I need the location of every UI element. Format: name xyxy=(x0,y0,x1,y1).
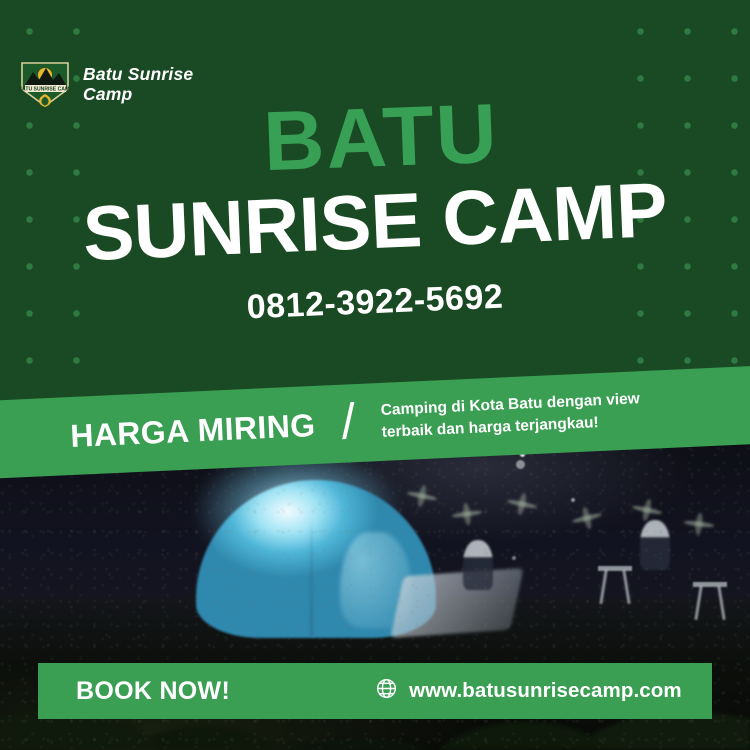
promo-poster: BATU SUNRISE CAMP Batu Sunrise Camp BATU… xyxy=(0,0,750,750)
svg-text:BATU SUNRISE CAMP: BATU SUNRISE CAMP xyxy=(19,87,71,93)
promo-title: HARGA MIRING xyxy=(69,406,316,454)
website-link[interactable]: www.batusunrisecamp.com xyxy=(375,677,682,705)
globe-icon xyxy=(375,677,398,705)
headline-block: BATU SUNRISE CAMP 0812-3922-5692 xyxy=(0,96,750,322)
camp-shield-logo-icon: BATU SUNRISE CAMP xyxy=(19,59,71,109)
promo-tagline: Camping di Kota Batu dengan view terbaik… xyxy=(380,386,682,444)
cta-bar[interactable]: BOOK NOW! www.batusunrisecamp.com xyxy=(38,663,712,719)
brand-name: Batu Sunrise Camp xyxy=(83,64,193,105)
website-url[interactable]: www.batusunrisecamp.com xyxy=(409,679,682,703)
divider-slash: / xyxy=(340,396,356,447)
book-now-button[interactable]: BOOK NOW! xyxy=(76,677,230,706)
brand-lockup: BATU SUNRISE CAMP Batu Sunrise Camp xyxy=(19,59,193,109)
